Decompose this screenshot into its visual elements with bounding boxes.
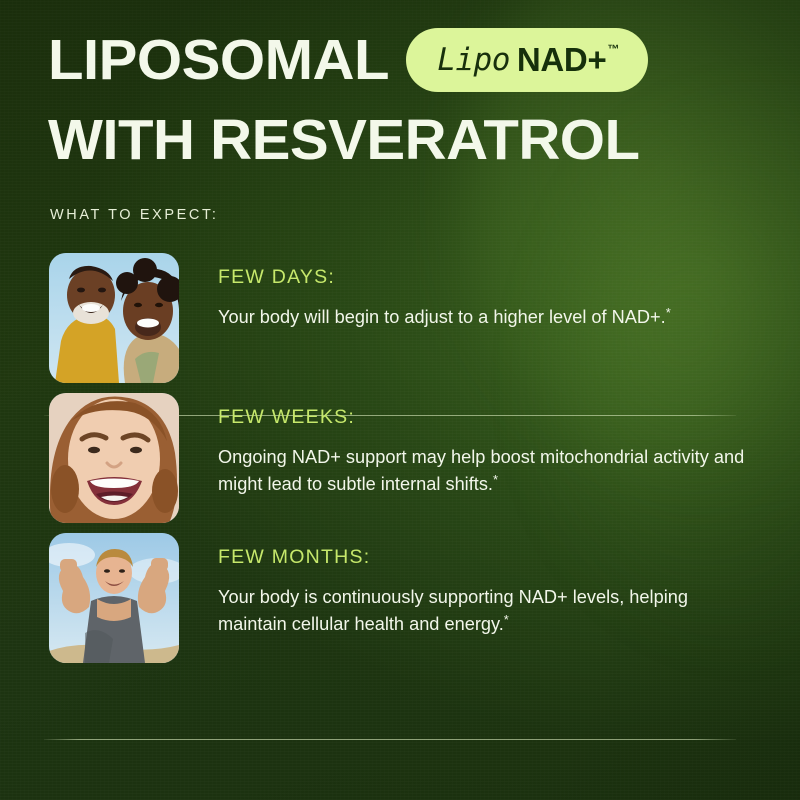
trademark-icon: ™ — [607, 42, 619, 56]
footnote-marker: * — [493, 472, 498, 487]
row-title: FEW MONTHS: — [218, 546, 800, 569]
timeline-rows: FEW DAYS: Your body will begin to adjust… — [0, 243, 800, 663]
headline-line-2: WITH RESVERATROL — [48, 109, 640, 171]
logo-word-lipo: Lipo — [437, 40, 510, 80]
footnote-marker: * — [504, 612, 509, 627]
row-thumbnail-couple — [49, 253, 179, 383]
row-title: FEW DAYS: — [218, 266, 800, 289]
headline-line-1: LIPOSOMAL — [48, 29, 389, 91]
logo-word-nad: NAD+ — [517, 40, 607, 80]
list-item: FEW WEEKS: Ongoing NAD+ support may help… — [0, 383, 800, 523]
eyebrow-label: WHAT TO EXPECT: — [50, 207, 218, 223]
man-flexing-illustration — [49, 533, 179, 663]
row-text-block: FEW MONTHS: Your body is continuously su… — [179, 533, 800, 638]
logo-lockup: Lipo NAD+ ™ — [437, 40, 619, 80]
row-thumbnail-woman-face — [49, 393, 179, 523]
row-body: Your body is continuously supporting NAD… — [218, 584, 758, 638]
row-text-block: FEW DAYS: Your body will begin to adjust… — [179, 253, 800, 331]
row-body-text: Your body will begin to adjust to a high… — [218, 307, 666, 327]
lipo-nad-logo-badge: Lipo NAD+ ™ — [406, 28, 648, 92]
row-body-text: Ongoing NAD+ support may help boost mito… — [218, 447, 744, 494]
promo-graphic: LIPOSOMAL Lipo NAD+ ™ WITH RESVERATROL W… — [0, 0, 800, 800]
woman-face-illustration — [49, 393, 179, 523]
row-divider — [44, 739, 736, 740]
row-title: FEW WEEKS: — [218, 406, 800, 429]
row-text-block: FEW WEEKS: Ongoing NAD+ support may help… — [179, 393, 800, 498]
row-body: Your body will begin to adjust to a high… — [218, 304, 758, 331]
headline-block: LIPOSOMAL Lipo NAD+ ™ WITH RESVERATROL — [48, 26, 758, 174]
headline-row-first: LIPOSOMAL Lipo NAD+ ™ — [48, 26, 758, 94]
couple-photo-illustration — [49, 253, 179, 383]
list-item: FEW MONTHS: Your body is continuously su… — [0, 523, 800, 663]
headline-row-second: WITH RESVERATROL — [48, 106, 758, 174]
row-thumbnail-man-flexing — [49, 533, 179, 663]
footnote-marker: * — [666, 305, 671, 320]
row-body-text: Your body is continuously supporting NAD… — [218, 587, 688, 634]
list-item: FEW DAYS: Your body will begin to adjust… — [0, 243, 800, 383]
row-body: Ongoing NAD+ support may help boost mito… — [218, 444, 758, 498]
